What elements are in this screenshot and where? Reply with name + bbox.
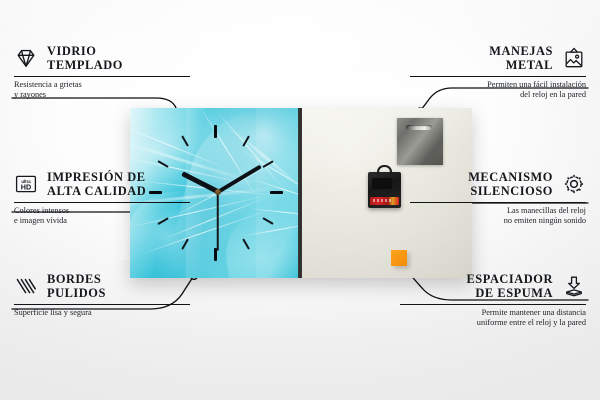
foam-spacer (391, 250, 407, 266)
feature-title-line1: MECANISMO (410, 170, 553, 184)
clock-second-hand (217, 189, 219, 251)
feature-subtitle: Superficie lisa y segura (14, 305, 190, 318)
ultra-hd-icon: ultra HD (14, 172, 38, 196)
feature-title-line2: TEMPLADO (47, 58, 123, 72)
feature-title-line2: SILENCIOSO (410, 184, 553, 198)
feature-title-line1: ESPACIADOR (400, 272, 553, 286)
diagonal-lines-icon (14, 274, 38, 298)
feature-mecanismo-silencioso: MECANISMO SILENCIOSO Las manecillas del … (410, 170, 586, 227)
clock-tick-3 (270, 191, 283, 194)
feature-bordes-pulidos: BORDES PULIDOS Superficie lisa y segura (14, 272, 190, 318)
diamond-icon (14, 46, 38, 70)
feature-espaciador-espuma: ESPACIADOR DE ESPUMA Permite mantener un… (400, 272, 586, 329)
metal-hanger-plate (397, 118, 443, 165)
feature-subtitle: Resistencia a grietas y rayones (14, 77, 190, 101)
feature-manejas-metal: MANEJAS METAL Permiten una fácil instala… (410, 44, 586, 101)
feature-title-line2: DE ESPUMA (400, 286, 553, 300)
quartz-mechanism (368, 172, 401, 208)
hanger-slot (406, 125, 432, 130)
feature-title-line2: PULIDOS (47, 286, 106, 300)
battery-label (370, 197, 399, 205)
feature-vidrio-templado: VIDRIO TEMPLADO Resistencia a grietas y … (14, 44, 190, 101)
gear-icon (562, 172, 586, 196)
clock-tick-12 (214, 125, 217, 138)
feature-title-line2: METAL (410, 58, 553, 72)
arrow-down-layers-icon (562, 274, 586, 298)
feature-subtitle: Colores intensos e imagen vívida (14, 203, 190, 227)
feature-impresion-alta-calidad: ultra HD IMPRESIÓN DE ALTA CALIDAD Color… (14, 170, 190, 227)
feature-subtitle: Las manecillas del reloj no emiten ningú… (410, 203, 586, 227)
mechanism-hanging-loop (377, 165, 392, 174)
infographic-canvas: VIDRIO TEMPLADO Resistencia a grietas y … (0, 0, 600, 400)
svg-text:HD: HD (21, 183, 31, 192)
feature-title-line2: ALTA CALIDAD (47, 184, 146, 198)
feature-subtitle: Permite mantener una distancia uniforme … (400, 305, 586, 329)
picture-hanger-icon (562, 46, 586, 70)
feature-title-line1: VIDRIO (47, 44, 123, 58)
feature-title-line1: IMPRESIÓN DE (47, 170, 146, 184)
mechanism-housing-detail (372, 178, 392, 189)
feature-title-line1: BORDES (47, 272, 106, 286)
clock-center-cap (215, 189, 221, 195)
feature-subtitle: Permiten una fácil instalación del reloj… (410, 77, 586, 101)
feature-title-line1: MANEJAS (410, 44, 553, 58)
